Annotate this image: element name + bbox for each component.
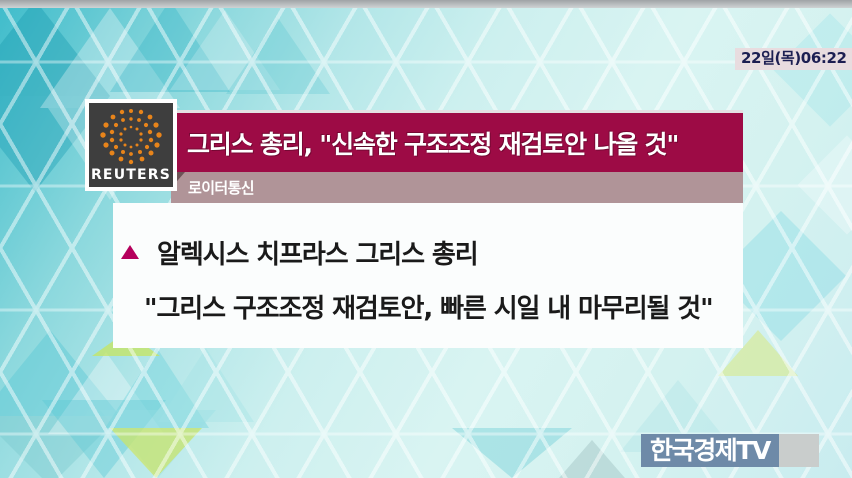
korea-economic-tv-logo: 한국경제TV xyxy=(641,434,819,467)
reuters-wordmark: REUTERS xyxy=(91,167,171,183)
body-text-line-1: 알렉시스 치프라스 그리스 총리 xyxy=(157,234,478,271)
headline-text: 그리스 총리, "신속한 구조조정 재검토안 나올 것" xyxy=(187,125,678,161)
news-source-label: 로이터통신 xyxy=(188,177,254,198)
reuters-logo: REUTERS xyxy=(85,99,177,191)
broadcast-screen: 22일(목)06:22 그리스 총리, "신속한 구조조정 재검토안 나올 것"… xyxy=(0,0,852,478)
reuters-dot-circle-icon xyxy=(98,106,164,168)
headline-bar: 그리스 총리, "신속한 구조조정 재검토안 나올 것" xyxy=(171,110,743,172)
channel-logo-plate: 한국경제TV xyxy=(641,434,779,467)
body-text-line-2: "그리스 구조조정 재검토안, 빠른 시일 내 마무리될 것" xyxy=(144,288,713,325)
broadcast-timestamp: 22일(목)06:22 xyxy=(735,48,852,70)
news-source-bar: 로이터통신 xyxy=(171,172,743,203)
content-panel xyxy=(113,203,743,348)
channel-logo-tail-block xyxy=(779,434,819,467)
top-bar-strip xyxy=(0,0,852,8)
channel-logo-text: 한국경제TV xyxy=(650,437,770,464)
triangle-bullet-icon xyxy=(121,245,139,259)
